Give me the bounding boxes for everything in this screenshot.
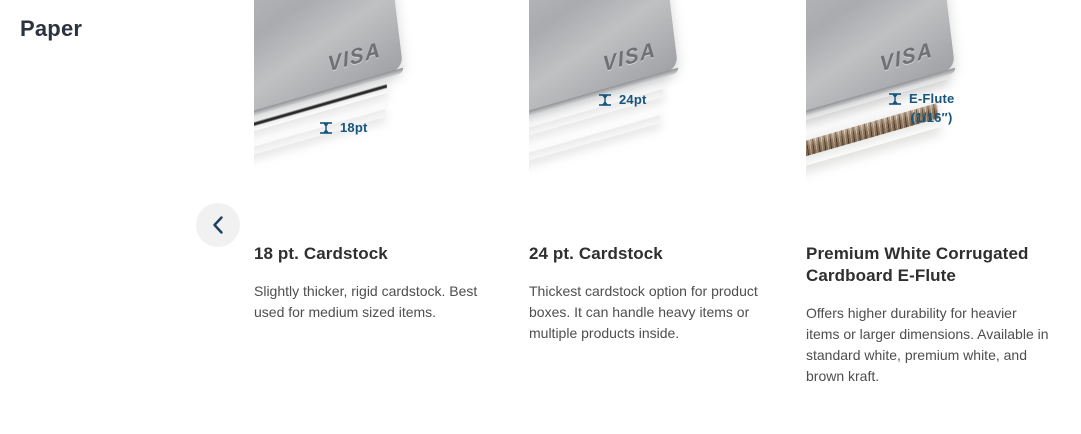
thickness-callout: 18pt bbox=[318, 119, 368, 141]
visa-wordmark: VISA bbox=[602, 38, 658, 77]
caliper-thickness-icon bbox=[887, 91, 903, 112]
thickness-value-sub: (1/16″) bbox=[909, 109, 954, 126]
product-card[interactable]: VISA 24pt 24 pt. Cardsto bbox=[529, 0, 779, 344]
visa-wordmark: VISA bbox=[879, 38, 935, 77]
product-title: 24 pt. Cardstock bbox=[529, 243, 779, 265]
product-illustration: VISA E-Flute (1/16″) bbox=[806, 0, 1056, 207]
product-description: Offers higher durability for heavier ite… bbox=[806, 303, 1052, 387]
product-title: Premium White Corrugated Cardboard E-Flu… bbox=[806, 243, 1052, 287]
product-description: Slightly thicker, rigid cardstock. Best … bbox=[254, 281, 504, 323]
carousel-prev-button[interactable] bbox=[196, 203, 240, 247]
visa-wordmark: VISA bbox=[327, 38, 383, 77]
thickness-callout: E-Flute (1/16″) bbox=[887, 90, 954, 126]
product-illustration: VISA 18pt bbox=[254, 0, 492, 207]
product-card[interactable]: VISA E-Flute (1/16″) bbox=[806, 0, 1056, 387]
product-title: 18 pt. Cardstock bbox=[254, 243, 504, 265]
product-card[interactable]: VISA 18pt 18 pt. Cardsto bbox=[254, 0, 504, 323]
thickness-callout: 24pt bbox=[597, 91, 647, 113]
thickness-value: E-Flute (1/16″) bbox=[909, 90, 954, 126]
chevron-left-icon bbox=[212, 216, 224, 234]
caliper-thickness-icon bbox=[597, 92, 613, 113]
carousel-track[interactable]: VISA 18pt 18 pt. Cardsto bbox=[254, 0, 1081, 434]
thickness-value: 24pt bbox=[619, 91, 647, 108]
product-description: Thickest cardstock option for product bo… bbox=[529, 281, 779, 344]
caliper-thickness-icon bbox=[318, 120, 334, 141]
thickness-value: 18pt bbox=[340, 119, 368, 136]
product-illustration: VISA 24pt bbox=[529, 0, 767, 207]
page-title: Paper bbox=[20, 16, 82, 42]
thickness-value-main: E-Flute bbox=[909, 91, 954, 106]
